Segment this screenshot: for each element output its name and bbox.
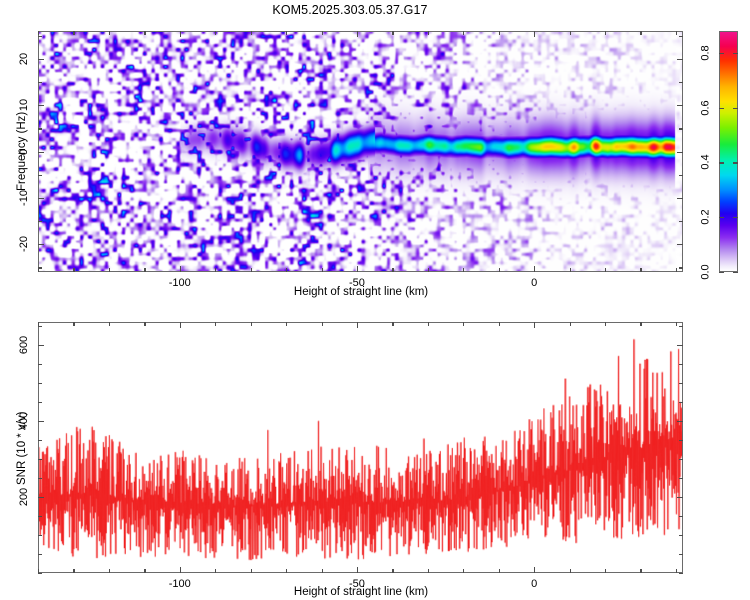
tick-mark (676, 268, 677, 272)
tick-mark (679, 267, 683, 268)
tick-mark (679, 459, 683, 460)
tick-mark (733, 108, 738, 109)
tick-mark (38, 364, 42, 365)
tick-mark (463, 31, 464, 35)
tick-mark (180, 567, 181, 573)
tick-mark (38, 440, 42, 441)
tick-mark (38, 268, 39, 272)
tick-mark (38, 478, 42, 479)
tick-mark (679, 82, 683, 83)
tick-mark (322, 268, 323, 272)
tick-mark (38, 36, 42, 37)
tick-mark (719, 108, 724, 109)
tick-mark (109, 569, 110, 573)
tick-mark (534, 567, 535, 573)
tick-mark (38, 31, 39, 35)
tick-mark (677, 244, 683, 245)
tick-mark (357, 322, 358, 328)
tick-mark (679, 221, 683, 222)
tick-mark (357, 31, 358, 37)
tick-mark (534, 322, 535, 328)
spectrogram-y-tick-label: 10 (18, 99, 30, 111)
tick-mark (180, 266, 181, 272)
tick-mark (679, 535, 683, 536)
colorbar-tick-label: 0.6 (699, 100, 711, 115)
tick-mark (679, 573, 683, 574)
colorbar-tick-label: 0.8 (699, 45, 711, 60)
tick-mark (677, 152, 683, 153)
tick-mark (679, 128, 683, 129)
tick-mark (38, 59, 44, 60)
tick-mark (38, 128, 42, 129)
tick-mark (38, 383, 42, 384)
tick-mark (251, 268, 252, 272)
tick-mark (73, 569, 74, 573)
spectrogram-image (39, 32, 682, 271)
tick-mark (570, 322, 571, 326)
tick-mark (215, 268, 216, 272)
tick-mark (679, 402, 683, 403)
tick-mark (180, 322, 181, 328)
snr-axes (38, 322, 683, 573)
tick-mark (38, 573, 42, 574)
spectrogram-y-tick-label: 20 (18, 53, 30, 65)
tick-mark (251, 322, 252, 326)
tick-mark (733, 162, 738, 163)
tick-mark (676, 322, 677, 326)
tick-mark (144, 322, 145, 326)
tick-mark (144, 268, 145, 272)
tick-mark (38, 402, 42, 403)
tick-mark (679, 175, 683, 176)
spectrogram-x-tick-label: -100 (169, 277, 191, 289)
tick-mark (570, 569, 571, 573)
tick-mark (286, 569, 287, 573)
tick-mark (286, 322, 287, 326)
tick-mark (38, 267, 42, 268)
tick-mark (677, 59, 683, 60)
tick-mark (38, 345, 44, 346)
snr-x-axis-title: Height of straight line (km) (294, 586, 428, 598)
tick-mark (428, 322, 429, 326)
snr-y-axis-title: SNR (10 * v/v) (16, 411, 28, 485)
tick-mark (38, 516, 42, 517)
tick-mark (38, 497, 44, 498)
tick-mark (38, 244, 44, 245)
spectrogram-x-axis-title: Height of straight line (km) (294, 286, 428, 298)
tick-mark (679, 326, 683, 327)
snr-x-tick-label: 0 (531, 578, 537, 590)
colorbar-gradient (720, 32, 737, 271)
tick-mark (73, 31, 74, 35)
tick-mark (679, 478, 683, 479)
tick-mark (38, 105, 44, 106)
figure-root: KOM5.2025.303.05.37.G17 -100-500-20-1001… (0, 0, 750, 600)
tick-mark (605, 268, 606, 272)
tick-mark (144, 569, 145, 573)
tick-mark (570, 268, 571, 272)
tick-mark (322, 31, 323, 35)
tick-mark (38, 421, 44, 422)
tick-mark (605, 569, 606, 573)
tick-mark (251, 569, 252, 573)
tick-mark (215, 322, 216, 326)
tick-mark (733, 53, 738, 54)
spectrogram-x-tick-label: 0 (531, 277, 537, 289)
tick-mark (428, 31, 429, 35)
tick-mark (38, 535, 42, 536)
tick-mark (679, 516, 683, 517)
snr-x-tick-label: -100 (169, 578, 191, 590)
tick-mark (534, 266, 535, 272)
tick-mark (605, 322, 606, 326)
tick-mark (38, 175, 42, 176)
colorbar (719, 31, 738, 272)
tick-mark (109, 31, 110, 35)
colorbar-tick-label: 0.2 (699, 210, 711, 225)
snr-y-tick-label: 200 (18, 488, 30, 506)
tick-mark (463, 569, 464, 573)
tick-mark (251, 31, 252, 35)
page-title: KOM5.2025.303.05.37.G17 (0, 3, 700, 17)
tick-mark (679, 440, 683, 441)
tick-mark (719, 53, 724, 54)
tick-mark (719, 217, 724, 218)
tick-mark (38, 459, 42, 460)
tick-mark (677, 345, 683, 346)
tick-mark (392, 31, 393, 35)
tick-mark (38, 198, 44, 199)
spectrogram-axes (38, 31, 683, 272)
tick-mark (534, 31, 535, 37)
tick-mark (719, 272, 724, 273)
tick-mark (38, 221, 42, 222)
tick-mark (679, 364, 683, 365)
tick-mark (677, 497, 683, 498)
snr-y-tick-label: 600 (18, 336, 30, 354)
tick-mark (392, 268, 393, 272)
tick-mark (677, 198, 683, 199)
tick-mark (428, 569, 429, 573)
tick-mark (322, 322, 323, 326)
tick-mark (215, 569, 216, 573)
tick-mark (38, 554, 42, 555)
tick-mark (499, 569, 500, 573)
tick-mark (73, 268, 74, 272)
tick-mark (640, 322, 641, 326)
tick-mark (677, 421, 683, 422)
tick-mark (38, 82, 42, 83)
tick-mark (428, 268, 429, 272)
spectrogram-y-axis-title: Frequency (Hz) (16, 112, 28, 191)
tick-mark (357, 266, 358, 272)
tick-mark (392, 569, 393, 573)
tick-mark (677, 105, 683, 106)
tick-mark (215, 31, 216, 35)
tick-mark (733, 217, 738, 218)
tick-mark (180, 31, 181, 37)
tick-mark (679, 383, 683, 384)
tick-mark (733, 272, 738, 273)
snr-trace (39, 323, 682, 572)
tick-mark (73, 322, 74, 326)
tick-mark (392, 322, 393, 326)
tick-mark (357, 567, 358, 573)
tick-mark (640, 569, 641, 573)
tick-mark (286, 268, 287, 272)
tick-mark (605, 31, 606, 35)
tick-mark (38, 326, 42, 327)
spectrogram-y-tick-label: -10 (18, 190, 30, 206)
tick-mark (640, 31, 641, 35)
tick-mark (719, 162, 724, 163)
tick-mark (38, 152, 44, 153)
tick-mark (676, 31, 677, 35)
tick-mark (286, 31, 287, 35)
tick-mark (144, 31, 145, 35)
tick-mark (679, 554, 683, 555)
tick-mark (676, 569, 677, 573)
tick-mark (109, 268, 110, 272)
tick-mark (109, 322, 110, 326)
spectrogram-y-tick-label: -20 (18, 236, 30, 252)
tick-mark (679, 36, 683, 37)
tick-mark (499, 322, 500, 326)
colorbar-tick-label: 0.4 (699, 155, 711, 170)
tick-mark (322, 569, 323, 573)
tick-mark (499, 268, 500, 272)
tick-mark (570, 31, 571, 35)
tick-mark (463, 322, 464, 326)
tick-mark (463, 268, 464, 272)
tick-mark (640, 268, 641, 272)
colorbar-tick-label: 0.0 (699, 264, 711, 279)
tick-mark (499, 31, 500, 35)
